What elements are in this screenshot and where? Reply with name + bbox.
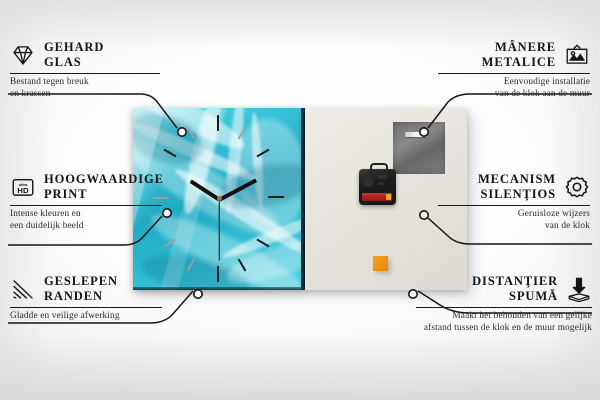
feature-gehard-glas: GEHARD GLAS Bestand tegen breuk en krass… [10, 40, 170, 100]
feature-geslepen-randen: GESLEPEN RANDEN Gladde en veilige afwerk… [10, 274, 175, 323]
spacer-arrow-icon [566, 276, 592, 302]
hand-cap [217, 196, 222, 201]
feature-divider [10, 307, 162, 308]
feature-divider [10, 73, 160, 74]
feature-mecanism-silentios: MECANISM SILENŢIOS Geruisloze wijzers va… [430, 172, 590, 232]
feature-title-line2: PRINT [44, 187, 164, 202]
feature-divider [438, 205, 590, 206]
feature-desc-line2: van de klok [430, 221, 590, 233]
gear-icon [564, 174, 590, 200]
feature-header: MÂNERE METALICE [430, 40, 590, 70]
tick-3 [268, 196, 284, 198]
ultra-hd-icon-bottom: HD [17, 186, 29, 195]
mechanism-battery [362, 193, 392, 201]
feature-title-line1: MÂNERE [482, 40, 556, 55]
feature-title-line1: DISTANŢIER [472, 274, 558, 289]
feature-title-line2: GLAS [44, 55, 104, 70]
feature-header: GESLEPEN RANDEN [10, 274, 175, 304]
feature-title-line1: GESLEPEN [44, 274, 118, 289]
feature-desc-line2: van de klok aan de muur [430, 89, 590, 101]
tick-12 [217, 115, 219, 131]
diamond-icon [10, 42, 36, 68]
feature-desc-line2: een duidelijk beeld [10, 221, 175, 233]
feature-manere-metalice: MÂNERE METALICE Eenvoudige installatie v… [430, 40, 590, 100]
feature-divider [10, 205, 162, 206]
feature-desc-line1: Maakt het behouden van een gelijke [408, 311, 592, 323]
feature-hoogwaardige-print: ultra HD HOOGWAARDIGE PRINT Intense kleu… [10, 172, 175, 232]
ultra-hd-icon: ultra HD [10, 174, 36, 200]
feature-title-line2: SILENŢIOS [478, 187, 556, 202]
feature-title-line2: RANDEN [44, 289, 118, 304]
feature-title-line2: SPUMĂ [472, 289, 558, 304]
feature-desc-line2: en krassen [10, 89, 170, 101]
hanger-slot [405, 132, 427, 137]
feature-title-line2: METALICE [482, 55, 556, 70]
product-infographic: GEHARD GLAS Bestand tegen breuk en krass… [0, 0, 600, 400]
feature-header: DISTANŢIER SPUMĂ [408, 274, 592, 304]
feature-header: MECANISM SILENŢIOS [430, 172, 590, 202]
product-illustration [133, 108, 467, 290]
bevelled-edge-icon [10, 276, 36, 302]
feature-distantier-spuma: DISTANŢIER SPUMĂ Maakt het behouden van … [408, 274, 592, 334]
feature-desc-line1: Geruisloze wijzers [430, 209, 590, 221]
feature-title-line1: HOOGWAARDIGE [44, 172, 164, 187]
mechanism-hanging-tab [370, 163, 388, 174]
feature-desc-line2: afstand tussen de klok en de muur mogeli… [408, 323, 592, 335]
feature-desc-line1: Eenvoudige installatie [430, 77, 590, 89]
second-hand [218, 199, 219, 261]
tick-6 [217, 266, 219, 282]
feature-desc-line1: Gladde en veilige afwerking [10, 311, 175, 323]
feature-divider [438, 73, 590, 74]
feature-desc-line1: Intense kleuren en [10, 209, 175, 221]
feature-header: ultra HD HOOGWAARDIGE PRINT [10, 172, 175, 202]
feature-desc-line1: Bestand tegen breuk [10, 77, 170, 89]
clock-mechanism [359, 169, 396, 205]
feature-title-line1: MECANISM [478, 172, 556, 187]
metal-hanger-plate [393, 122, 445, 174]
feature-header: GEHARD GLAS [10, 40, 170, 70]
foam-spacer [373, 256, 388, 271]
feature-divider [416, 307, 592, 308]
feature-title-line1: GEHARD [44, 40, 104, 55]
hanging-picture-frame-icon [564, 42, 590, 68]
